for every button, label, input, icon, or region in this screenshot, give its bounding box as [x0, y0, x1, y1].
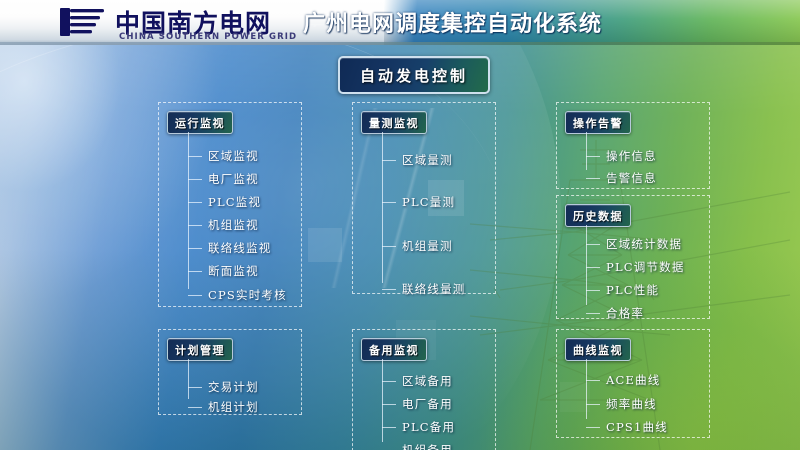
group-title: 操作告警	[573, 115, 623, 131]
menu-item-label[interactable]: PLC监视	[208, 194, 261, 210]
group-title: 曲线监视	[573, 342, 623, 358]
menu-item-label[interactable]: 断面监视	[208, 263, 259, 279]
group-header-operation-alarm[interactable]: 操作告警	[565, 111, 631, 134]
menu-item-label[interactable]: PLC备用	[402, 419, 455, 435]
menu-item-label[interactable]: 区域监视	[208, 148, 259, 164]
group-curve-monitoring: 曲线监视 ACE曲线 频率曲线 CPS1曲线	[556, 329, 710, 438]
group-reserve-monitoring: 备用监视 区域备用 电厂备用 PLC备用 机组备用	[352, 329, 496, 450]
menu-item-label[interactable]: 机组量测	[402, 238, 453, 254]
menu-item-label[interactable]: PLC量测	[402, 194, 455, 210]
tree-branch	[188, 271, 202, 272]
menu-item-label[interactable]: PLC调节数据	[606, 259, 685, 275]
tree-branch	[586, 156, 600, 157]
tree-branch	[586, 290, 600, 291]
tree-branch	[382, 202, 396, 203]
menu-item-label[interactable]: 机组计划	[208, 399, 259, 415]
menu-item-label[interactable]: 机组监视	[208, 217, 259, 233]
group-title: 计划管理	[175, 342, 225, 358]
tree-branch	[188, 387, 202, 388]
menu-item-label[interactable]: 交易计划	[208, 379, 259, 395]
tree-branch	[586, 244, 600, 245]
group-header-curve-monitoring[interactable]: 曲线监视	[565, 338, 631, 361]
group-header-history-data[interactable]: 历史数据	[565, 204, 631, 227]
group-title: 历史数据	[573, 208, 623, 224]
menu-item-label[interactable]: CPS1曲线	[606, 419, 668, 435]
tree-branch	[586, 313, 600, 314]
tree-branch	[586, 267, 600, 268]
tree-branch	[188, 202, 202, 203]
tree-branch	[188, 179, 202, 180]
menu-item-label[interactable]: 区域统计数据	[606, 236, 682, 252]
application-screen: 中国南方电网 CHINA SOUTHERN POWER GRID 广州电网调度集…	[0, 0, 800, 450]
tree-branch	[188, 225, 202, 226]
menu-item-label[interactable]: 操作信息	[606, 148, 657, 164]
group-history-data: 历史数据 区域统计数据 PLC调节数据 PLC性能 合格率	[556, 195, 710, 319]
menu-item-label[interactable]: 频率曲线	[606, 396, 657, 412]
group-title: 量测监视	[369, 115, 419, 131]
menu-item-label[interactable]: 告警信息	[606, 170, 657, 186]
group-title: 备用监视	[369, 342, 419, 358]
group-operation-alarm: 操作告警 操作信息 告警信息	[556, 102, 710, 189]
tree-branch	[586, 427, 600, 428]
menu-item-label[interactable]: 区域备用	[402, 373, 453, 389]
tree-branch	[382, 427, 396, 428]
menu-item-label[interactable]: PLC性能	[606, 282, 659, 298]
tree-branch	[382, 381, 396, 382]
tree-branch	[188, 156, 202, 157]
group-header-reserve-monitoring[interactable]: 备用监视	[361, 338, 427, 361]
main-title-label: 自动发电控制	[360, 65, 468, 86]
menu-item-label[interactable]: 联络线监视	[208, 240, 272, 256]
menu-item-label[interactable]: 联络线量测	[402, 281, 466, 297]
menu-item-label[interactable]: CPS实时考核	[208, 287, 287, 303]
title-bar-divider	[0, 42, 800, 45]
tree-branch	[382, 160, 396, 161]
group-measurement-monitoring: 量测监视 区域量测 PLC量测 机组量测 联络线量测	[352, 102, 496, 294]
menu-item-label[interactable]: 机组备用	[402, 442, 453, 450]
group-operation-monitoring: 运行监视 区域监视 电厂监视 PLC监视 机组监视 联络线监视 断面监视 CPS…	[158, 102, 302, 307]
tree-branch	[382, 289, 396, 290]
title-bar: 中国南方电网 CHINA SOUTHERN POWER GRID 广州电网调度集…	[0, 0, 800, 45]
menu-item-label[interactable]: 电厂备用	[402, 396, 453, 412]
company-name-en: CHINA SOUTHERN POWER GRID	[119, 32, 297, 42]
main-title-plate[interactable]: 自动发电控制	[338, 56, 490, 94]
menu-item-label[interactable]: 区域量测	[402, 152, 453, 168]
menu-item-label[interactable]: 电厂监视	[208, 171, 259, 187]
menu-item-label[interactable]: 合格率	[606, 305, 644, 321]
tree-branch	[586, 404, 600, 405]
tree-branch	[586, 178, 600, 179]
system-title: 广州电网调度集控自动化系统	[303, 6, 602, 38]
group-header-measurement-monitoring[interactable]: 量测监视	[361, 111, 427, 134]
tree-branch	[188, 407, 202, 408]
tree-branch	[188, 295, 202, 296]
group-header-operation-monitoring[interactable]: 运行监视	[167, 111, 233, 134]
group-header-plan-management[interactable]: 计划管理	[167, 338, 233, 361]
tree-branch	[382, 404, 396, 405]
tree-branch	[188, 248, 202, 249]
tree-branch	[382, 246, 396, 247]
csg-grid-logo-icon	[58, 5, 106, 39]
group-plan-management: 计划管理 交易计划 机组计划	[158, 329, 302, 415]
tree-branch	[586, 380, 600, 381]
group-title: 运行监视	[175, 115, 225, 131]
menu-item-label[interactable]: ACE曲线	[606, 372, 661, 388]
